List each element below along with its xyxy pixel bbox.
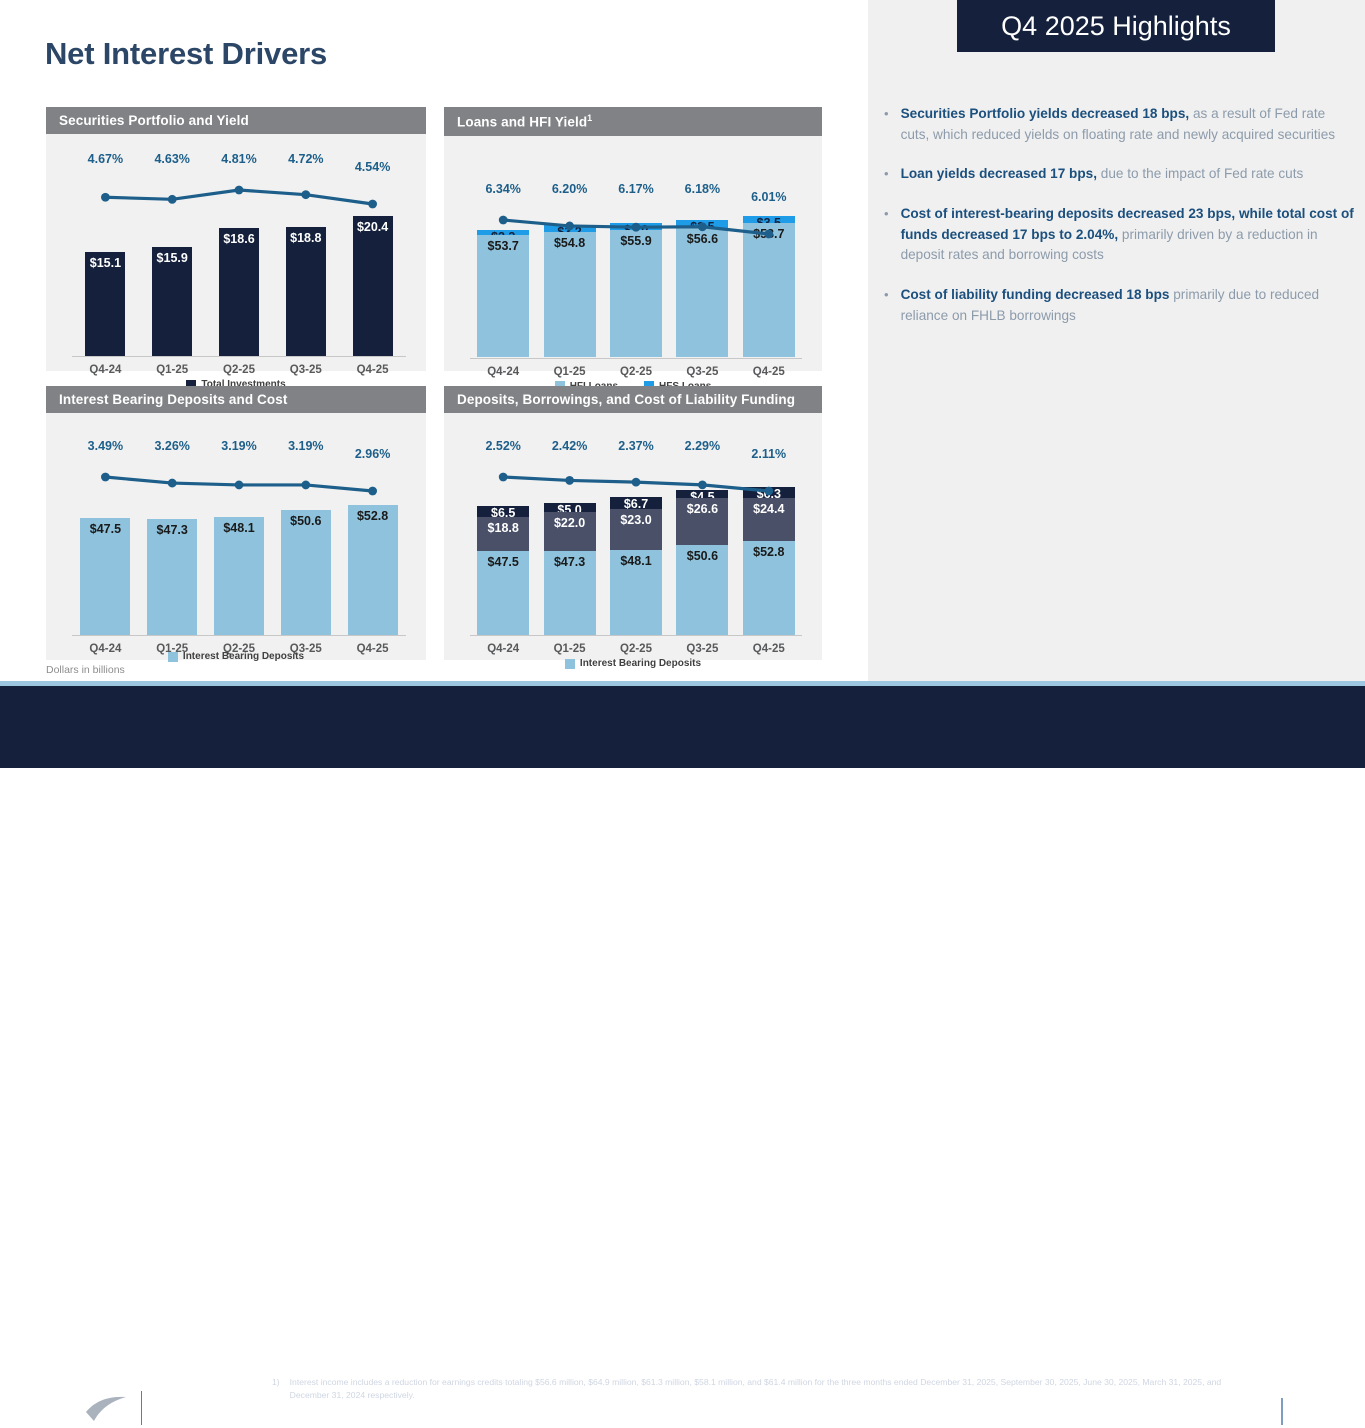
- legend-swatch: [168, 652, 178, 662]
- bar-group: $5.0$22.0$47.3: [544, 503, 596, 635]
- x-axis-label: Q1-25: [139, 364, 206, 376]
- bar-segment: $15.9: [152, 247, 192, 356]
- bullet-emphasis: Securities Portfolio yields decreased 18…: [901, 106, 1190, 121]
- slide-footer: Western Alliance Bancorporation® 1) Inte…: [0, 686, 1365, 768]
- x-axis-label: Q4-25: [339, 364, 406, 376]
- highlight-bullet: •Loan yields decreased 17 bps, due to th…: [884, 164, 1354, 185]
- bar-value-label: $47.5: [477, 555, 529, 569]
- bullet-text: Securities Portfolio yields decreased 18…: [901, 104, 1354, 145]
- trend-point: [632, 478, 641, 487]
- chart-title-footnote-marker: 1: [587, 113, 592, 123]
- highlight-bullet: •Cost of interest-bearing deposits decre…: [884, 204, 1354, 266]
- bar-segment: $18.8: [477, 517, 529, 550]
- trend-value-label: 4.72%: [272, 152, 339, 166]
- bar-value-label: $48.1: [610, 554, 662, 568]
- trend-value-label: 6.01%: [736, 190, 802, 204]
- trend-point: [368, 200, 377, 209]
- bar-segment: $18.6: [219, 228, 259, 356]
- bar-segment: $52.8: [743, 541, 795, 635]
- trend-point: [168, 195, 177, 204]
- trend-line-loans: [444, 204, 822, 244]
- bullet-text: Cost of interest-bearing deposits decrea…: [901, 204, 1354, 266]
- trend-point: [301, 190, 310, 199]
- trend-point: [235, 186, 244, 195]
- page-title: Net Interest Drivers: [45, 36, 327, 72]
- bar-value-label: $24.4: [743, 502, 795, 516]
- chart-panel-securities: Securities Portfolio and Yield$15.1Q4-24…: [46, 107, 426, 371]
- bullet-marker: •: [884, 104, 889, 145]
- trend-point: [235, 481, 244, 490]
- bar-group: $6.3$24.4$52.8: [743, 487, 795, 635]
- x-axis-label: Q4-24: [470, 366, 536, 378]
- bar-group: $47.3: [147, 519, 197, 635]
- bar-segment: $20.4: [353, 216, 393, 356]
- chart-title-deposits: Interest Bearing Deposits and Cost: [46, 386, 426, 413]
- bar-value-label: $47.3: [147, 523, 197, 537]
- plot-area-loans: $2.3$53.7Q4-246.34%$3.2$54.8Q1-256.20%$3…: [444, 136, 822, 372]
- bar-segment: $58.7: [743, 223, 795, 357]
- bar-segment: $55.9: [610, 230, 662, 358]
- dollars-in-billions-note: Dollars in billions: [46, 664, 125, 676]
- x-axis-label: Q4-25: [736, 643, 802, 655]
- bullet-text: Cost of liability funding decreased 18 b…: [901, 285, 1354, 326]
- highlight-bullet: •Securities Portfolio yields decreased 1…: [884, 104, 1354, 145]
- bar-segment: $15.1: [85, 252, 125, 356]
- x-axis-label: Q4-24: [470, 643, 536, 655]
- bar-segment: $22.0: [544, 512, 596, 551]
- bar-segment: $48.1: [214, 517, 264, 635]
- chart-panel-funding: Deposits, Borrowings, and Cost of Liabil…: [444, 386, 822, 660]
- bar-segment: $52.8: [348, 505, 398, 635]
- bar-group: $20.4: [353, 216, 393, 356]
- x-axis-line: [72, 635, 406, 636]
- bar-group: $48.1: [214, 517, 264, 635]
- bar-value-label: $50.6: [676, 549, 728, 563]
- trend-value-label: 6.34%: [470, 182, 536, 196]
- legend-swatch: [565, 659, 575, 669]
- wa-monogram-icon: [42, 1388, 130, 1428]
- x-axis-label: Q2-25: [603, 643, 669, 655]
- logo-line-2-text: Bancorporation: [153, 1408, 245, 1423]
- bullet-marker: •: [884, 204, 889, 266]
- bar-segment: $54.8: [544, 232, 596, 357]
- bar-segment: $56.6: [676, 228, 728, 357]
- bar-segment: $23.0: [610, 509, 662, 550]
- plot-area-funding: $6.5$18.8$47.5Q4-242.52%$5.0$22.0$47.3Q1…: [444, 413, 822, 659]
- legend-row: Interest Bearing Deposits: [46, 651, 426, 662]
- trend-point: [499, 473, 508, 482]
- trend-point: [565, 476, 574, 485]
- bar-group: $15.9: [152, 247, 192, 356]
- company-logo: Western Alliance Bancorporation®: [42, 1388, 263, 1428]
- trend-value-label: 2.37%: [603, 439, 669, 453]
- logo-line-1: Western Alliance: [153, 1392, 263, 1408]
- trend-point: [698, 222, 707, 231]
- chart-panel-loans: Loans and HFI Yield1$2.3$53.7Q4-246.34%$…: [444, 107, 822, 371]
- trend-value-label: 3.49%: [72, 439, 139, 453]
- bar-value-label: $23.0: [610, 513, 662, 527]
- x-axis-label: Q3-25: [272, 364, 339, 376]
- trend-value-label: 4.54%: [339, 160, 406, 174]
- highlights-title: Q4 2025 Highlights: [957, 0, 1275, 52]
- chart-title-loans: Loans and HFI Yield1: [444, 107, 822, 136]
- bar-group: $47.5: [80, 518, 130, 635]
- bar-value-label: $20.4: [353, 220, 393, 234]
- legend-row: Interest Bearing Deposits: [444, 658, 822, 669]
- x-axis-line: [470, 358, 802, 359]
- bar-group: $2.3$53.7: [477, 230, 529, 358]
- chart-title-securities: Securities Portfolio and Yield: [46, 107, 426, 134]
- bar-group: $4.5$26.6$50.6: [676, 490, 728, 635]
- bar-segment: $48.1: [610, 550, 662, 635]
- bar-segment: $18.8: [286, 227, 326, 356]
- bar-value-label: $52.8: [743, 545, 795, 559]
- bar-group: $6.5$18.8$47.5: [477, 506, 529, 635]
- bar-value-label: $15.9: [152, 251, 192, 265]
- bar-group: $18.8: [286, 227, 326, 356]
- legend-item: Interest Bearing Deposits: [168, 651, 304, 662]
- logo-divider: [141, 1391, 142, 1425]
- trend-value-label: 2.96%: [339, 447, 406, 461]
- chart-title-funding: Deposits, Borrowings, and Cost of Liabil…: [444, 386, 822, 413]
- trend-value-label: 3.19%: [272, 439, 339, 453]
- bar-group: $50.6: [281, 510, 331, 635]
- bar-segment: $5.0: [544, 503, 596, 512]
- bar-value-label: $18.8: [477, 521, 529, 535]
- bar-segment: $26.6: [676, 498, 728, 545]
- trend-line-securities: [46, 174, 426, 214]
- legend-item: Interest Bearing Deposits: [565, 658, 701, 669]
- logo-line-2: Bancorporation®: [153, 1408, 263, 1424]
- bullet-emphasis: Loan yields decreased 17 bps,: [901, 166, 1097, 181]
- bar-segment: $47.5: [477, 551, 529, 635]
- trend-value-label: 6.20%: [536, 182, 602, 196]
- trend-point: [101, 193, 110, 202]
- bullet-emphasis: Cost of liability funding decreased 18 b…: [901, 287, 1170, 302]
- x-axis-label: Q4-25: [736, 366, 802, 378]
- bar-segment: $6.5: [477, 506, 529, 518]
- trend-point: [632, 222, 641, 231]
- x-axis-line: [470, 635, 802, 636]
- trend-point: [499, 215, 508, 224]
- bullet-text: Loan yields decreased 17 bps, due to the…: [901, 164, 1354, 185]
- trend-point: [368, 487, 377, 496]
- x-axis-label: Q2-25: [603, 366, 669, 378]
- trend-value-label: 2.42%: [536, 439, 602, 453]
- x-axis-label: Q1-25: [536, 366, 602, 378]
- trend-value-label: 4.81%: [206, 152, 273, 166]
- bar-group: $3.2$54.8: [544, 225, 596, 357]
- chart-panel-deposits: Interest Bearing Deposits and Cost$47.5Q…: [46, 386, 426, 660]
- bar-group: $52.8: [348, 505, 398, 635]
- trend-point: [565, 221, 574, 230]
- bar-value-label: $26.6: [676, 502, 728, 516]
- trend-value-label: 4.63%: [139, 152, 206, 166]
- bar-group: $18.6: [219, 228, 259, 356]
- x-axis-label: Q2-25: [206, 364, 273, 376]
- trend-line-funding: [444, 461, 822, 501]
- trend-point: [764, 487, 773, 496]
- bullet-marker: •: [884, 164, 889, 185]
- footnote: 1) Interest income includes a reduction …: [272, 1376, 1232, 1402]
- plot-area-deposits: $47.5Q4-243.49%$47.3Q1-253.26%$48.1Q2-25…: [46, 413, 426, 659]
- x-axis-label: Q4-24: [72, 364, 139, 376]
- bar-value-label: $47.3: [544, 555, 596, 569]
- trend-value-label: 4.67%: [72, 152, 139, 166]
- bar-segment: $50.6: [676, 545, 728, 635]
- page-number-divider: [1281, 1398, 1283, 1425]
- bar-group: $6.7$23.0$48.1: [610, 497, 662, 635]
- trend-value-label: 6.18%: [669, 182, 735, 196]
- trend-point: [698, 480, 707, 489]
- registered-mark: ®: [245, 1408, 251, 1417]
- bar-value-label: $52.8: [348, 509, 398, 523]
- bullet-marker: •: [884, 285, 889, 326]
- bar-segment: $50.6: [281, 510, 331, 635]
- bar-group: $15.1: [85, 252, 125, 356]
- trend-value-label: 3.19%: [206, 439, 273, 453]
- trend-point: [168, 479, 177, 488]
- trend-line-deposits: [46, 461, 426, 501]
- bar-value-label: $18.6: [219, 232, 259, 246]
- trend-value-label: 6.17%: [603, 182, 669, 196]
- trend-point: [301, 481, 310, 490]
- bar-segment: $53.7: [477, 235, 529, 358]
- trend-value-label: 2.29%: [669, 439, 735, 453]
- trend-value-label: 2.11%: [736, 447, 802, 461]
- bar-value-label: $50.6: [281, 514, 331, 528]
- bar-value-label: $18.8: [286, 231, 326, 245]
- bar-value-label: $22.0: [544, 516, 596, 530]
- logo-wordmark: Western Alliance Bancorporation®: [153, 1392, 263, 1424]
- footnote-text: Interest income includes a reduction for…: [290, 1376, 1232, 1402]
- highlights-bullet-list: •Securities Portfolio yields decreased 1…: [884, 104, 1354, 345]
- bar-segment: $47.5: [80, 518, 130, 635]
- legend-label: Interest Bearing Deposits: [580, 658, 701, 669]
- footnote-number: 1): [272, 1376, 280, 1402]
- page-number: 9: [1300, 1402, 1308, 1419]
- legend-label: Interest Bearing Deposits: [183, 651, 304, 662]
- chart-legend-deposits: Interest Bearing Deposits: [46, 651, 426, 662]
- trend-value-label: 3.26%: [139, 439, 206, 453]
- trend-point: [764, 229, 773, 238]
- bar-segment: $47.3: [544, 551, 596, 635]
- trend-value-label: 2.52%: [470, 439, 536, 453]
- highlight-bullet: •Cost of liability funding decreased 18 …: [884, 285, 1354, 326]
- bar-value-label: $48.1: [214, 521, 264, 535]
- bar-segment: $24.4: [743, 498, 795, 541]
- x-axis-line: [72, 356, 406, 357]
- plot-area-securities: $15.1Q4-244.67%$15.9Q1-254.63%$18.6Q2-25…: [46, 134, 426, 370]
- x-axis-label: Q3-25: [669, 643, 735, 655]
- bar-value-label: $15.1: [85, 256, 125, 270]
- bar-segment: $47.3: [147, 519, 197, 635]
- trend-point: [101, 473, 110, 482]
- x-axis-label: Q3-25: [669, 366, 735, 378]
- bar-value-label: $47.5: [80, 522, 130, 536]
- bullet-emphasis: Cost of interest-bearing deposits decrea…: [901, 206, 1354, 242]
- x-axis-label: Q1-25: [536, 643, 602, 655]
